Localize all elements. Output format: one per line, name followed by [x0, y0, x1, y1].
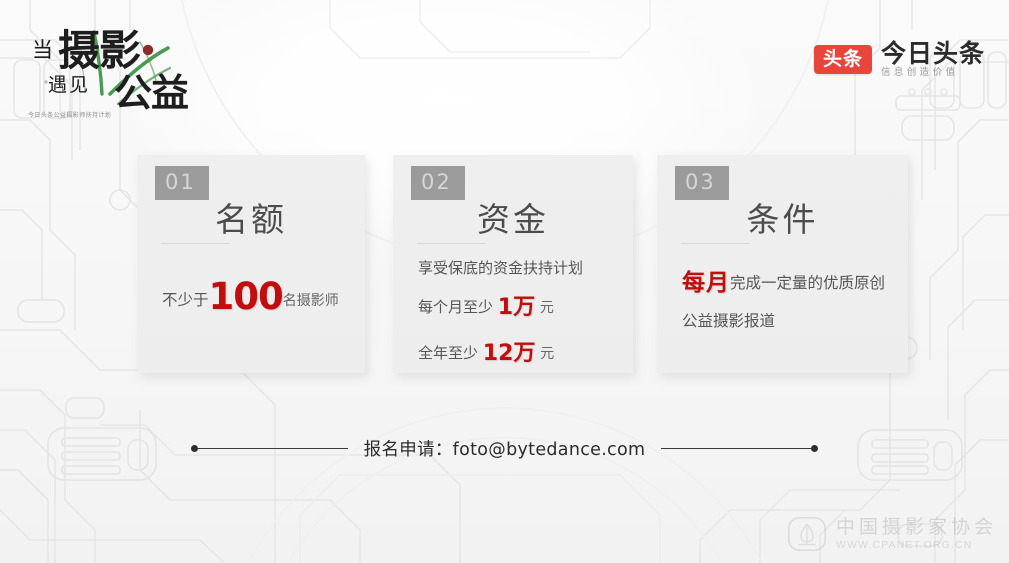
card-body: 每月完成一定量的优质原创公益摄影报道: [682, 261, 890, 336]
toutiao-mark: 头条: [814, 45, 872, 74]
toutiao-tagline: 信息创造价值: [881, 68, 985, 78]
funding-line2-prefix: 每个月至少: [418, 298, 493, 316]
card-title: 条件: [657, 193, 908, 241]
card-title: 名额: [137, 193, 365, 241]
quota-highlight: 100: [209, 275, 283, 318]
apply-bar: 报名申请：foto@bytedance.com: [0, 432, 1009, 464]
card-requirements: 03 条件 每月完成一定量的优质原创公益摄影报道: [657, 155, 908, 373]
title-divider: [161, 243, 229, 244]
watermark-name: 中国摄影家协会: [836, 518, 997, 537]
toutiao-logo: 头条 今日头条 信息创造价值: [814, 36, 985, 82]
quota-suffix: 名摄影师: [283, 293, 339, 309]
event-logo: 当 摄影 遇见 公益 今日头条公益摄影师扶持计划: [22, 26, 202, 118]
funding-line-3: 全年至少 12万 元: [418, 331, 615, 377]
card-funding: 02 资金 享受保底的资金扶持计划 每个月至少 1万 元 全年至少 12万 元: [393, 155, 633, 373]
info-cards: 01 名额 不少于100名摄影师 02 资金 享受保底的资金扶持计划 每个月至少…: [0, 155, 1009, 375]
apply-line-left: [198, 448, 348, 449]
card-title: 资金: [393, 193, 633, 241]
funding-line-1: 享受保底的资金扶持计划: [418, 253, 615, 285]
funding-line2-suffix: 元: [540, 300, 554, 316]
slide-root: 当 摄影 遇见 公益 今日头条公益摄影师扶持计划 头条 今日头条 信息创造价值 …: [0, 0, 1009, 563]
requirements-highlight: 每月: [682, 270, 730, 296]
card-body: 享受保底的资金扶持计划 每个月至少 1万 元 全年至少 12万 元: [418, 253, 615, 377]
title-divider: [681, 243, 749, 244]
toutiao-name: 今日头条: [881, 41, 985, 66]
funding-line2-highlight: 1万: [498, 295, 535, 320]
apply-dot-right: [811, 445, 818, 452]
logo-subtitle: 今日头条公益摄影师扶持计划: [28, 110, 111, 119]
apply-line-right: [661, 448, 811, 449]
title-divider: [417, 243, 485, 244]
funding-line-2: 每个月至少 1万 元: [418, 285, 615, 331]
apply-dot-left: [191, 445, 198, 452]
apply-text[interactable]: 报名申请：foto@bytedance.com: [348, 436, 662, 461]
funding-line3-suffix: 元: [540, 346, 554, 362]
logo-char-dang: 当: [32, 40, 53, 61]
quota-prefix: 不少于: [162, 291, 209, 309]
logo-char-yujian: 遇见: [48, 76, 90, 95]
card-quota: 01 名额 不少于100名摄影师: [137, 155, 365, 373]
funding-line3-prefix: 全年至少: [418, 344, 478, 362]
funding-line3-highlight: 12万: [483, 341, 536, 366]
logo-char-gongyi: 公益: [114, 74, 188, 112]
card-body: 不少于100名摄影师: [162, 259, 347, 335]
watermark: 中国摄影家协会 WWW.CPANET.ORG.CN: [786, 513, 997, 555]
cpanet-logo-icon: [786, 513, 828, 555]
watermark-url: WWW.CPANET.ORG.CN: [836, 540, 997, 551]
logo-red-dot: [143, 45, 153, 55]
logo-char-sheying: 摄影: [58, 30, 140, 72]
